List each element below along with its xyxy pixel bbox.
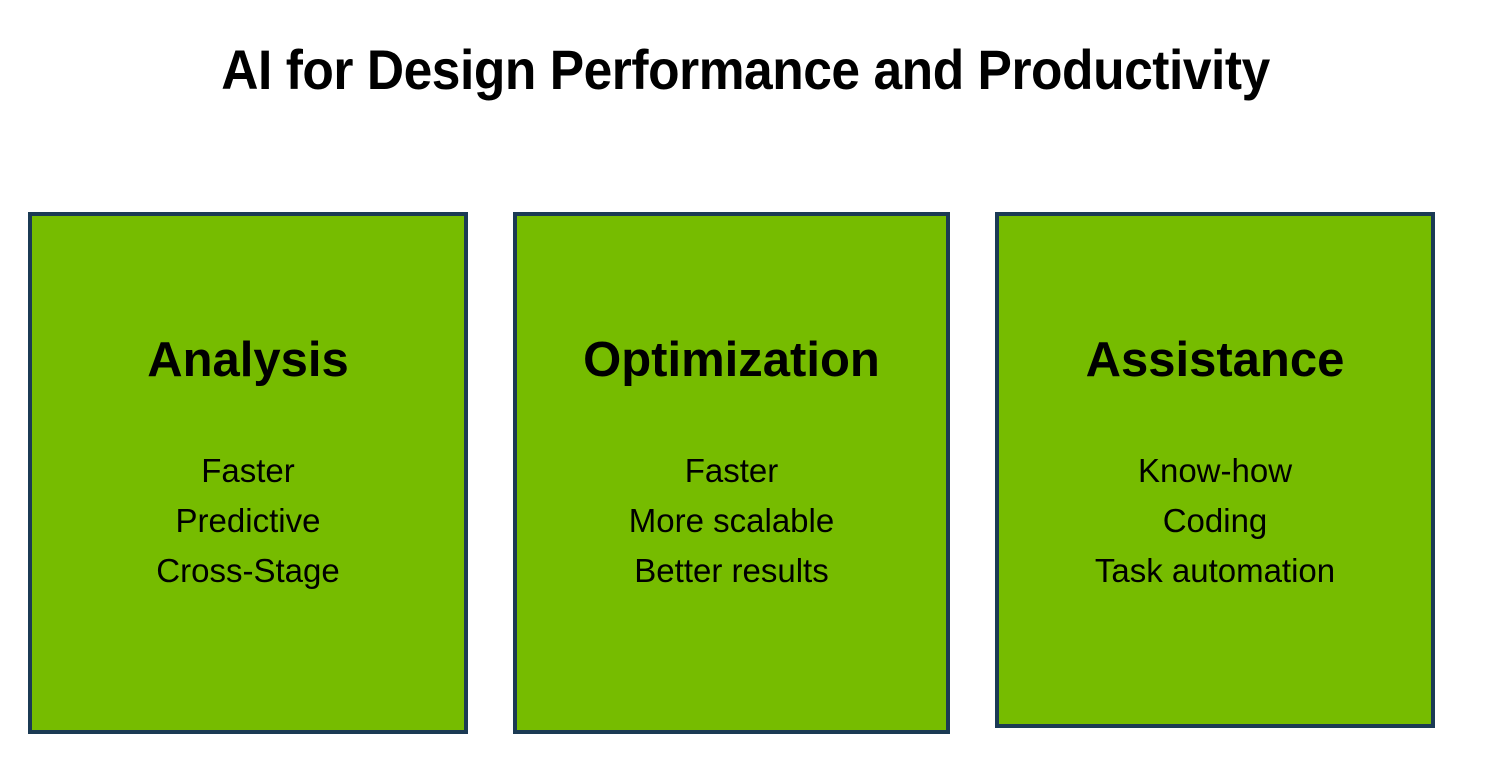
card-analysis[interactable]: Analysis Faster Predictive Cross-Stage (28, 212, 468, 734)
card-lines-optimization: Faster More scalable Better results (629, 446, 834, 596)
card-heading-analysis: Analysis (147, 332, 349, 388)
card-lines-assistance: Know-how Coding Task automation (1095, 446, 1335, 596)
card-heading-optimization: Optimization (583, 332, 880, 388)
card-line: Coding (1095, 496, 1335, 546)
card-heading-assistance: Assistance (1086, 332, 1345, 388)
card-line: Predictive (156, 496, 339, 546)
card-line: Task automation (1095, 546, 1335, 596)
card-line: Faster (156, 446, 339, 496)
card-group: Analysis Faster Predictive Cross-Stage O… (0, 0, 1491, 766)
card-line: Faster (629, 446, 834, 496)
card-optimization[interactable]: Optimization Faster More scalable Better… (513, 212, 950, 734)
card-line: More scalable (629, 496, 834, 546)
card-line: Cross-Stage (156, 546, 339, 596)
card-line: Better results (629, 546, 834, 596)
card-assistance[interactable]: Assistance Know-how Coding Task automati… (995, 212, 1435, 728)
card-line: Know-how (1095, 446, 1335, 496)
card-lines-analysis: Faster Predictive Cross-Stage (156, 446, 339, 596)
slide-canvas: AI for Design Performance and Productivi… (0, 0, 1491, 766)
